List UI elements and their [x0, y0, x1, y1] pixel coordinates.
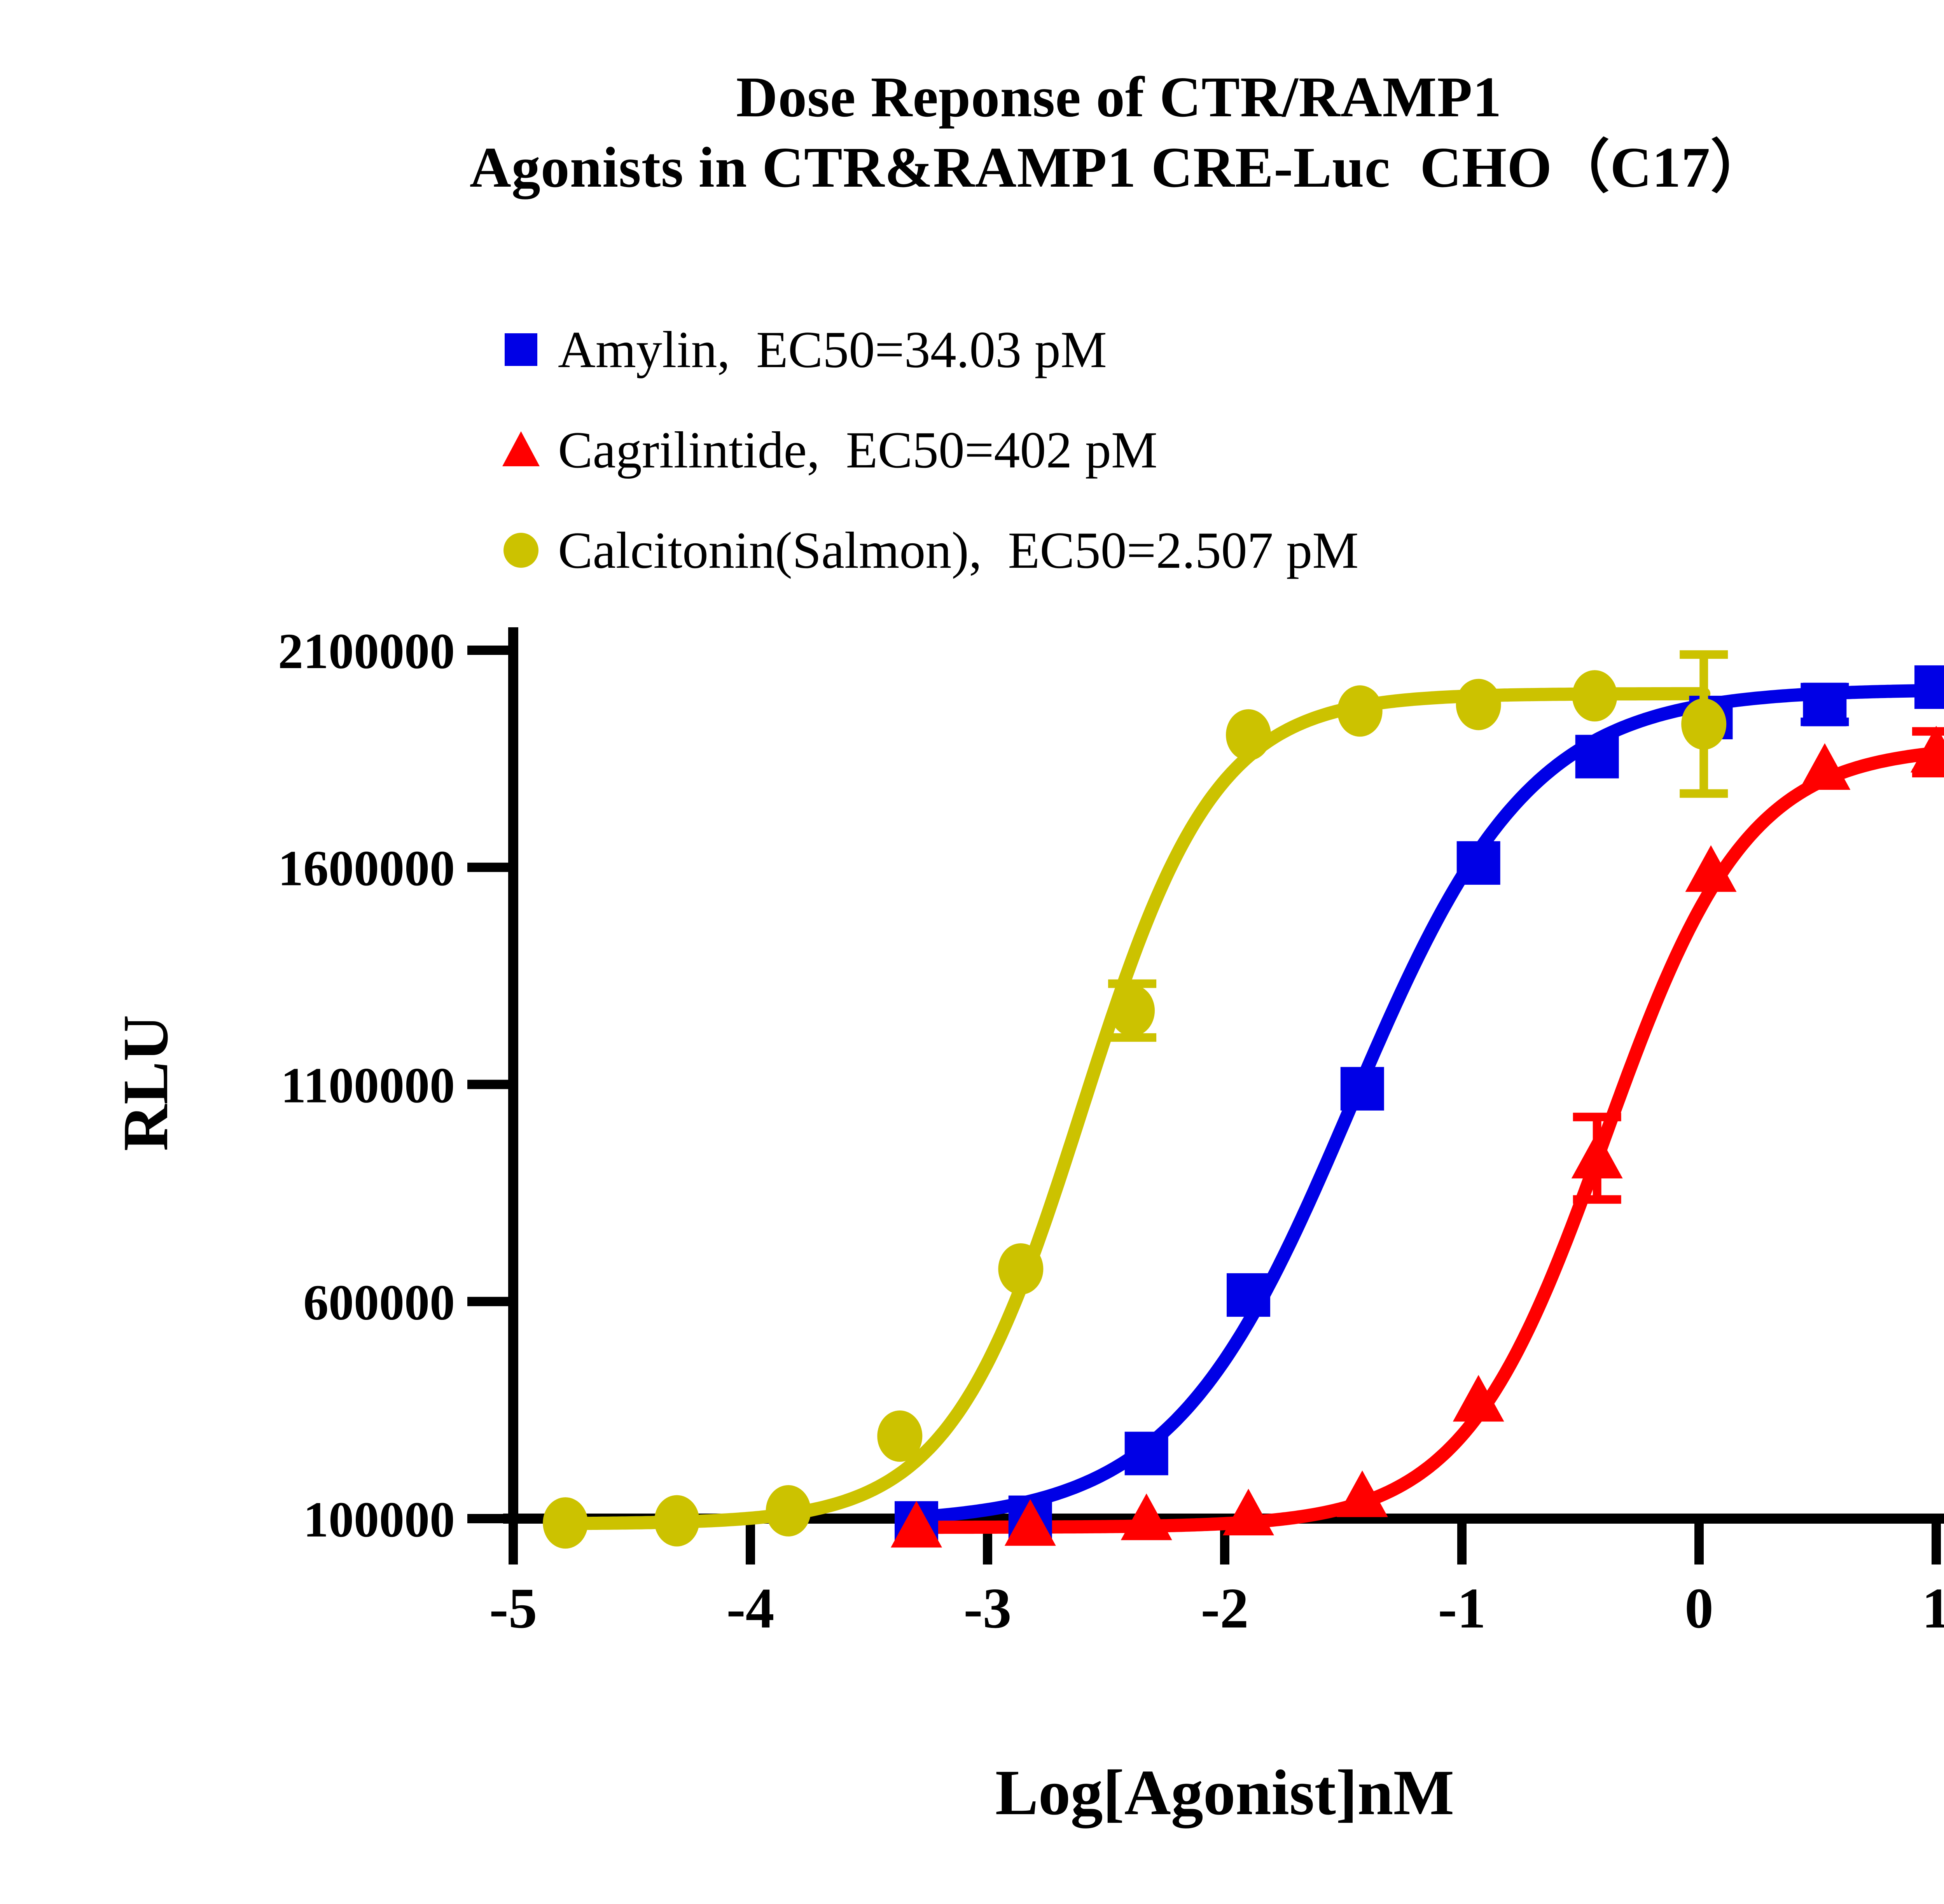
data-point-triangle[interactable]: [1572, 1132, 1623, 1178]
chart-page: Dose Reponse of CTR/RAMP1 Agonists in CT…: [0, 0, 1944, 1904]
data-point-square[interactable]: [1914, 665, 1944, 709]
curve-calcitonin-salmon-: [565, 694, 1704, 1524]
data-point-circle[interactable]: [877, 1410, 922, 1462]
data-point-triangle[interactable]: [1223, 1489, 1274, 1535]
data-point-circle[interactable]: [998, 1243, 1043, 1295]
data-point-circle[interactable]: [1226, 709, 1271, 761]
data-point-square[interactable]: [1575, 735, 1619, 779]
x-tick-label: -2: [1201, 1577, 1248, 1640]
data-point-circle[interactable]: [1110, 985, 1155, 1036]
x-tick-label: -4: [726, 1577, 774, 1640]
y-tick-label: 100000: [303, 1492, 455, 1548]
data-point-square[interactable]: [1227, 1273, 1270, 1317]
data-point-circle[interactable]: [1337, 685, 1383, 737]
data-point-circle[interactable]: [654, 1495, 699, 1547]
x-tick-label: 0: [1685, 1577, 1713, 1640]
data-point-circle[interactable]: [1456, 679, 1501, 730]
plot-area: 100000600000110000016000002100000-5-4-3-…: [0, 0, 1944, 1904]
x-axis-title: Log[Agonist]nM: [995, 1757, 1454, 1829]
data-point-square[interactable]: [1341, 1067, 1384, 1111]
data-point-square[interactable]: [1457, 841, 1500, 885]
data-point-circle[interactable]: [766, 1485, 811, 1536]
y-tick-label: 2100000: [278, 623, 455, 679]
data-point-circle[interactable]: [1572, 670, 1617, 721]
x-tick-label: 1: [1922, 1577, 1944, 1640]
data-point-circle[interactable]: [1681, 698, 1726, 750]
data-point-circle[interactable]: [543, 1497, 588, 1549]
y-tick-label: 1100000: [281, 1058, 455, 1114]
x-tick-label: -5: [489, 1577, 537, 1640]
y-tick-label: 1600000: [278, 840, 455, 896]
x-tick-label: -1: [1438, 1577, 1486, 1640]
data-point-square[interactable]: [1125, 1432, 1168, 1475]
x-tick-label: -3: [963, 1577, 1011, 1640]
curve-amylin: [916, 691, 1936, 1517]
y-tick-label: 600000: [303, 1275, 455, 1331]
y-axis-title: RLU: [110, 1015, 181, 1151]
data-point-square[interactable]: [1803, 683, 1846, 726]
